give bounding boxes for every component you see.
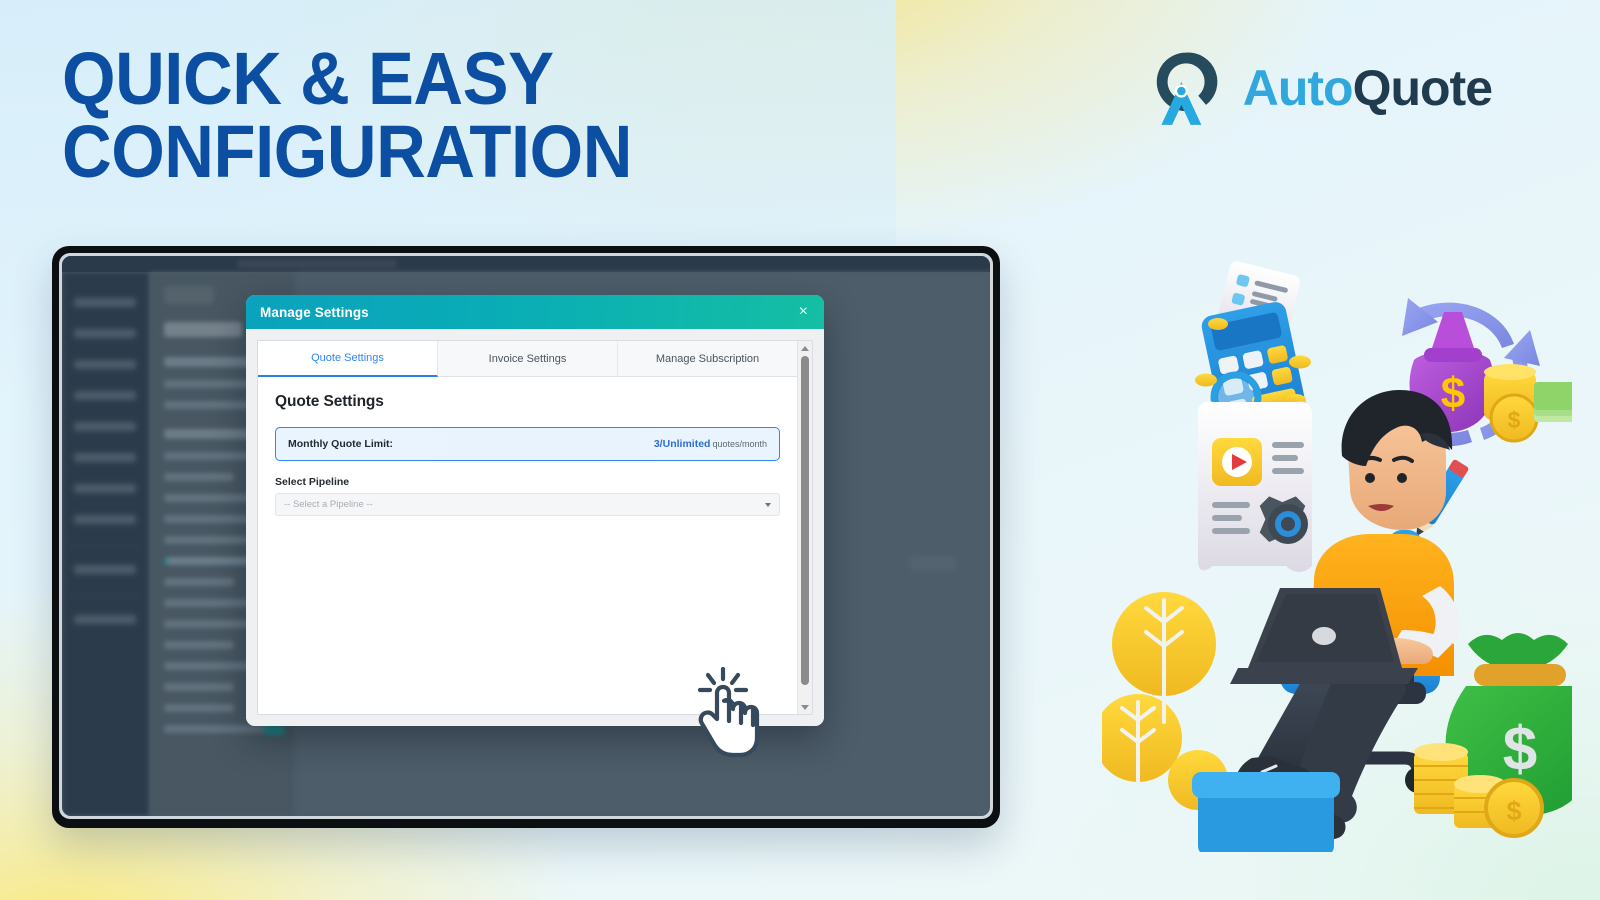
app-screen: Manage Settings × Quote Settings Invoice… (62, 256, 990, 816)
manage-settings-dialog: Manage Settings × Quote Settings Invoice… (246, 295, 824, 726)
autoquote-logo-mark-icon (1147, 48, 1225, 128)
dialog-title: Manage Settings (260, 305, 369, 320)
vertical-scrollbar[interactable] (797, 341, 812, 714)
section-title: Quote Settings (275, 393, 780, 411)
tab-quote-settings[interactable]: Quote Settings (258, 341, 438, 377)
logo-text-quote: Quote (1353, 60, 1492, 116)
scroll-down-arrow-icon[interactable] (798, 700, 812, 714)
quota-unit: quotes/month (712, 439, 767, 449)
device-bezel: Manage Settings × Quote Settings Invoice… (59, 253, 993, 819)
headline-line-2: Configuration (62, 115, 732, 188)
settings-tablist: Quote Settings Invoice Settings Manage S… (258, 341, 797, 377)
scroll-up-arrow-icon[interactable] (798, 341, 812, 355)
monthly-quote-limit-box: Monthly Quote Limit: 3/Unlimitedquotes/m… (275, 427, 780, 461)
scrollbar-track[interactable] (798, 355, 812, 700)
quota-label: Monthly Quote Limit: (288, 438, 393, 450)
pipeline-select[interactable]: -- Select a Pipeline -- (275, 493, 780, 516)
quota-limit: Unlimited (663, 438, 711, 450)
brand-logo: AutoQuote (1147, 48, 1492, 128)
chevron-down-icon (765, 503, 771, 507)
dialog-body: Quote Settings Invoice Settings Manage S… (246, 329, 824, 726)
page-title: Quick & Easy Configuration (62, 42, 732, 189)
select-pipeline-label: Select Pipeline (275, 476, 780, 488)
scrollbar-thumb[interactable] (801, 356, 809, 685)
settings-panel: Quote Settings Invoice Settings Manage S… (257, 340, 813, 715)
settings-scroll-area: Quote Settings Invoice Settings Manage S… (258, 341, 797, 714)
device-frame: Manage Settings × Quote Settings Invoice… (52, 246, 1000, 828)
tab-invoice-settings[interactable]: Invoice Settings (438, 341, 618, 376)
poster-canvas: Quick & Easy Configuration AutoQuote (0, 0, 1600, 900)
tab-manage-subscription[interactable]: Manage Subscription (618, 341, 797, 376)
quota-used: 3/ (654, 438, 663, 450)
pipeline-select-placeholder: -- Select a Pipeline -- (284, 499, 373, 510)
close-icon[interactable]: × (796, 302, 811, 322)
logo-text-auto: Auto (1243, 60, 1353, 116)
headline-line-1: Quick & Easy (62, 37, 554, 120)
brand-logo-text: AutoQuote (1243, 59, 1492, 117)
quote-settings-panel: Quote Settings Monthly Quote Limit: 3/Un… (258, 377, 797, 714)
quota-value: 3/Unlimitedquotes/month (654, 438, 767, 450)
dialog-header: Manage Settings × (246, 295, 824, 329)
